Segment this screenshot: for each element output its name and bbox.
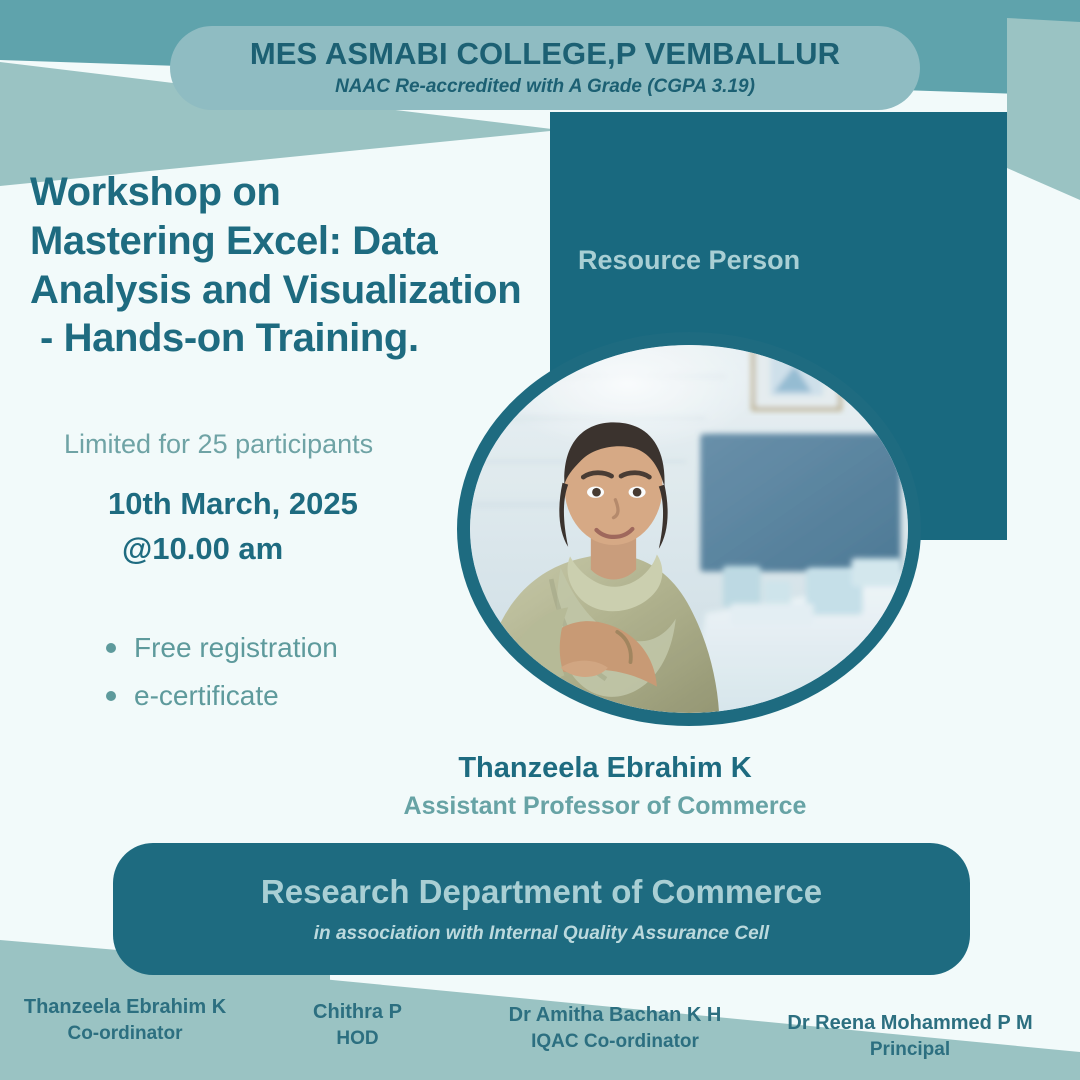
event-poster: MES ASMABI COLLEGE,P VEMBALLUR NAAC Re-a…	[0, 0, 1080, 1080]
signatory-hod: Chithra P HOD	[265, 999, 450, 1052]
avatar	[470, 345, 908, 713]
department-banner: Research Department of Commerce in assoc…	[113, 843, 970, 975]
department-name: Research Department of Commerce	[261, 873, 822, 911]
signatory-name: Dr Reena Mohammed P M	[760, 1010, 1060, 1037]
resource-person-designation: Assistant Professor of Commerce	[0, 792, 1080, 821]
portrait-illustration	[470, 345, 908, 713]
signatory-role: Principal	[760, 1037, 1060, 1063]
signatory-coordinator: Thanzeela Ebrahim K Co-ordinator	[10, 994, 240, 1047]
title-line-2: Mastering Excel: Data	[30, 217, 540, 266]
resource-person-name: Thanzeela Ebrahim K	[0, 752, 1080, 785]
college-name: MES ASMABI COLLEGE,P VEMBALLUR	[250, 38, 840, 71]
college-header-banner: MES ASMABI COLLEGE,P VEMBALLUR NAAC Re-a…	[170, 26, 920, 110]
signatory-name: Dr Amitha Bachan K H	[470, 1002, 760, 1029]
signatory-iqac-coordinator: Dr Amitha Bachan K H IQAC Co-ordinator	[470, 1002, 760, 1055]
signatory-role: HOD	[265, 1026, 450, 1052]
department-association: in association with Internal Quality Ass…	[314, 923, 769, 945]
signatory-name: Thanzeela Ebrahim K	[10, 994, 240, 1021]
bullet-icon	[106, 691, 116, 701]
event-date: 10th March, 2025	[108, 486, 358, 521]
title-line-1: Workshop on	[30, 168, 540, 217]
signatory-role: IQAC Co-ordinator	[470, 1029, 760, 1055]
signatory-role: Co-ordinator	[10, 1021, 240, 1047]
signatory-name: Chithra P	[265, 999, 450, 1026]
bullet-icon	[106, 643, 116, 653]
title-line-3: Analysis and Visualization	[30, 266, 540, 315]
signatory-principal: Dr Reena Mohammed P M Principal	[760, 1010, 1060, 1063]
signatories-row: Thanzeela Ebrahim K Co-ordinator Chithra…	[0, 986, 1080, 1080]
top-right-block	[1007, 18, 1080, 200]
accreditation-text: NAAC Re-accredited with A Grade (CGPA 3.…	[335, 76, 755, 98]
resource-person-label: Resource Person	[578, 245, 800, 276]
perk-label: e-certificate	[134, 680, 279, 711]
perk-label: Free registration	[134, 632, 338, 663]
photo-circle-border	[457, 332, 921, 726]
resource-person-photo-frame	[457, 332, 921, 726]
